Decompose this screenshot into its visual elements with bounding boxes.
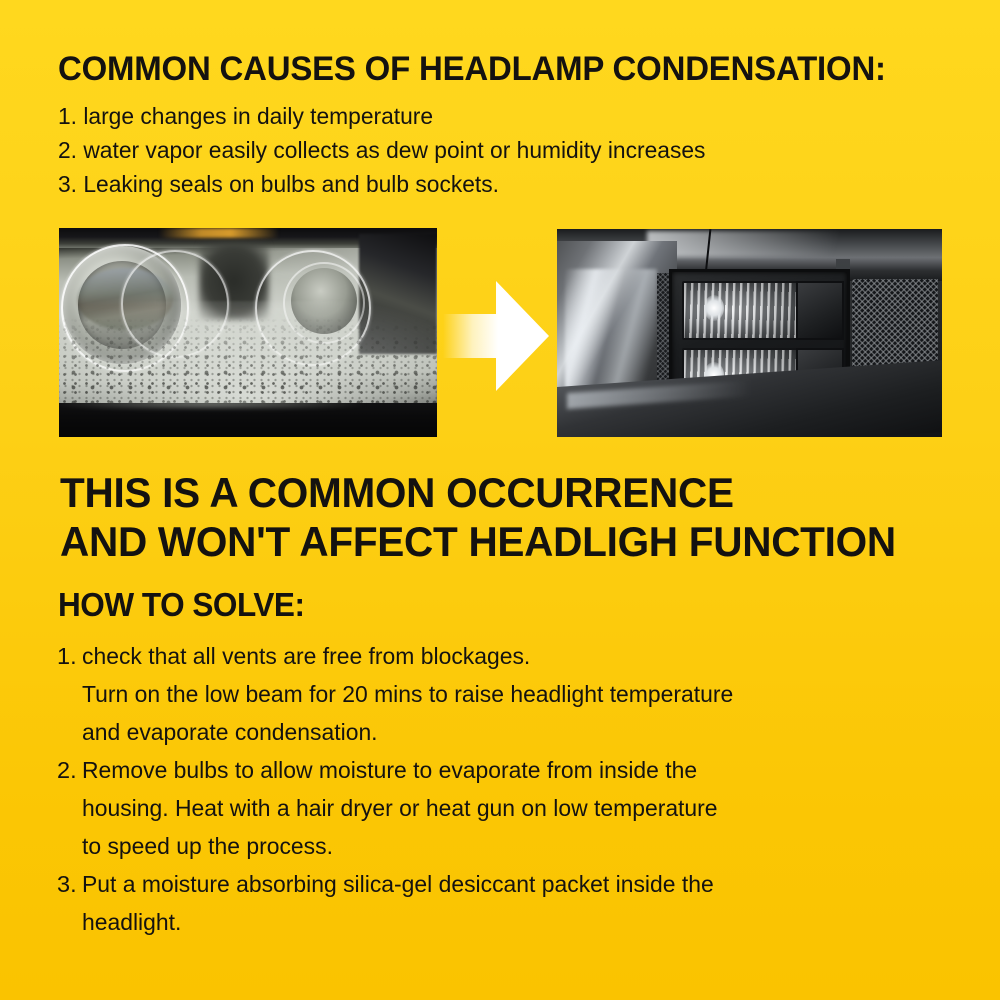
list-item-number: 3. (57, 865, 82, 903)
after-photo-clear-headlamp (557, 229, 942, 437)
cause-item: 2. water vapor easily collects as dew po… (58, 133, 931, 167)
list-item-number: 1. (57, 637, 82, 675)
list-item: 3. Put a moisture absorbing silica-gel d… (57, 865, 967, 941)
solve-list: 1. check that all vents are free from bl… (57, 637, 967, 941)
list-item-body: Remove bulbs to allow moisture to evapor… (82, 751, 967, 865)
list-item-number: 2. (57, 751, 82, 789)
list-item-body: check that all vents are free from block… (82, 637, 967, 751)
assurance-line-2: AND WON'T AFFECT HEADLIGH FUNCTION (60, 517, 896, 566)
right-arrow-icon (443, 281, 549, 391)
list-item-body: Put a moisture absorbing silica-gel desi… (82, 865, 967, 941)
page-title: COMMON CAUSES OF HEADLAMP CONDENSATION: (58, 52, 886, 87)
before-photo-fogged-headlamp (59, 228, 437, 437)
cause-item: 1. large changes in daily temperature (58, 99, 931, 133)
assurance-heading: THIS IS A COMMON OCCURRENCE AND WON'T AF… (60, 468, 926, 566)
list-item-line: to speed up the process. (82, 827, 945, 865)
list-item: 2. Remove bulbs to allow moisture to eva… (57, 751, 967, 865)
list-item-line: and evaporate condensation. (82, 713, 945, 751)
cause-item: 3. Leaking seals on bulbs and bulb socke… (58, 167, 931, 201)
solve-section-title: HOW TO SOLVE: (58, 588, 305, 622)
causes-list: 1. large changes in daily temperature 2.… (58, 99, 958, 201)
before-photo-artwork (59, 228, 437, 437)
list-item-line: Remove bulbs to allow moisture to evapor… (82, 751, 945, 789)
list-item-line: Put a moisture absorbing silica-gel desi… (82, 865, 945, 903)
infographic-poster: COMMON CAUSES OF HEADLAMP CONDENSATION: … (0, 0, 1000, 1000)
list-item-line: Turn on the low beam for 20 mins to rais… (82, 675, 945, 713)
list-item-line: headlight. (82, 903, 945, 941)
after-photo-artwork (557, 229, 942, 437)
list-item-line: check that all vents are free from block… (82, 637, 945, 675)
assurance-line-1: THIS IS A COMMON OCCURRENCE (60, 468, 896, 517)
list-item: 1. check that all vents are free from bl… (57, 637, 967, 751)
list-item-line: housing. Heat with a hair dryer or heat … (82, 789, 945, 827)
